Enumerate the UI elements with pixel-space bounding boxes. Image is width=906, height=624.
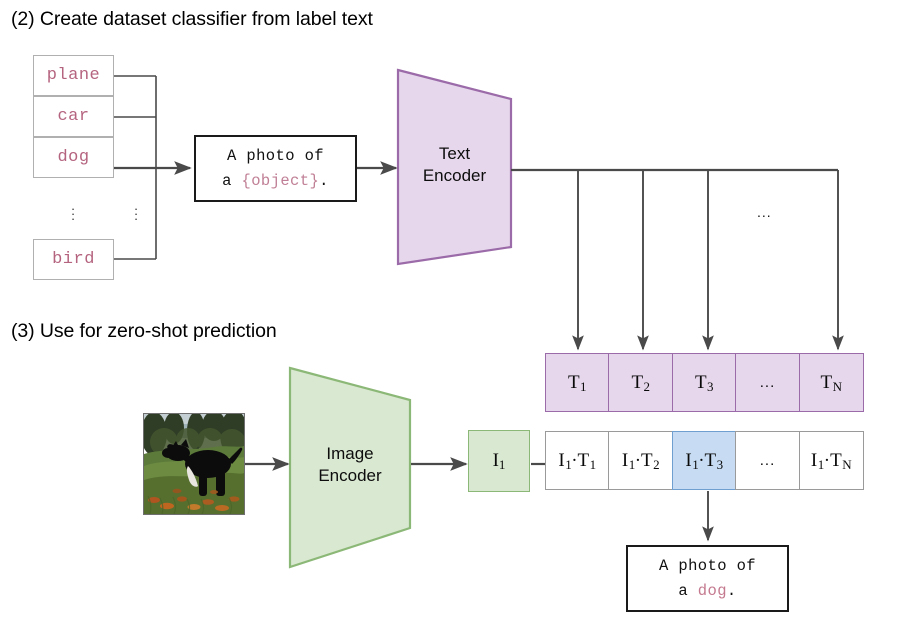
text-encoder-line-1: Text	[398, 143, 511, 165]
similarity-cell[interactable]: I1·TN	[799, 431, 864, 490]
text-encoder-line-2: Encoder	[398, 165, 511, 187]
sim-ellipsis: ...	[760, 452, 776, 469]
input-photo[interactable]	[143, 413, 245, 515]
text-encoder-label: Text Encoder	[398, 143, 511, 187]
text-embedding-cell[interactable]: TN	[799, 353, 864, 412]
cell-symbol: T	[568, 372, 580, 394]
cell-subscript: 2	[644, 379, 651, 395]
sim-i-sub: 1	[565, 457, 572, 473]
similarity-cell[interactable]: I1·T2	[608, 431, 673, 490]
sim-t-sub: 3	[717, 457, 724, 473]
cell-ellipsis: ...	[760, 374, 776, 391]
text-embedding-cell[interactable]: T2	[608, 353, 673, 412]
sim-t: T	[705, 450, 717, 472]
similarity-cell[interactable]: I1·T1	[545, 431, 610, 490]
cell-subscript: 1	[580, 379, 587, 395]
diagram-canvas: (2) Create dataset classifier from label…	[0, 0, 906, 624]
sim-t: T	[830, 450, 842, 472]
sim-i-sub: 1	[818, 457, 825, 473]
prediction-line-1: A photo of	[659, 554, 756, 578]
cell-subscript: 3	[707, 379, 714, 395]
sim-t-sub: 1	[590, 457, 597, 473]
prediction-suffix: .	[727, 582, 737, 600]
sim-t-sub: 2	[653, 457, 660, 473]
text-embeddings-row: T1 T2 T3 ... TN	[546, 353, 864, 412]
text-embedding-cell[interactable]: T1	[545, 353, 610, 412]
image-encoder-line-1: Image	[290, 443, 410, 465]
similarity-cell-selected[interactable]: I1·T3	[672, 431, 737, 490]
sim-i: I	[685, 450, 691, 472]
prediction-box[interactable]: A photo of a dog.	[626, 545, 789, 612]
text-encoder-bus-ellipsis: ...	[757, 204, 772, 220]
cell-symbol: T	[695, 372, 707, 394]
photo-artwork	[144, 414, 244, 514]
text-embedding-cell[interactable]: T3	[672, 353, 737, 412]
image-encoder-line-2: Encoder	[290, 465, 410, 487]
sim-i: I	[811, 450, 817, 472]
image-embedding-box[interactable]: I1	[468, 430, 530, 492]
similarity-cell-ellipsis: ...	[735, 431, 800, 490]
image-encoder-label: Image Encoder	[290, 443, 410, 487]
prediction-prefix: a	[678, 582, 697, 600]
similarity-row: I1·T1 I1·T2 I1·T3 ... I1·TN	[546, 431, 864, 490]
sim-t: T	[641, 450, 653, 472]
image-embedding-subscript: 1	[499, 457, 506, 473]
text-embedding-cell-ellipsis: ...	[735, 353, 800, 412]
cell-subscript: N	[833, 379, 842, 395]
sim-i: I	[558, 450, 564, 472]
cell-symbol: T	[821, 372, 833, 394]
sim-i-sub: 1	[692, 457, 699, 473]
prediction-line-2: a dog.	[678, 579, 736, 603]
sim-t-sub: N	[842, 457, 851, 473]
connector-layer	[0, 0, 906, 624]
prediction-word: dog	[698, 582, 727, 600]
sim-i-sub: 1	[629, 457, 636, 473]
sim-i: I	[622, 450, 628, 472]
cell-symbol: T	[631, 372, 643, 394]
sim-t: T	[578, 450, 590, 472]
text-embedding-drop-arrows	[578, 170, 838, 349]
